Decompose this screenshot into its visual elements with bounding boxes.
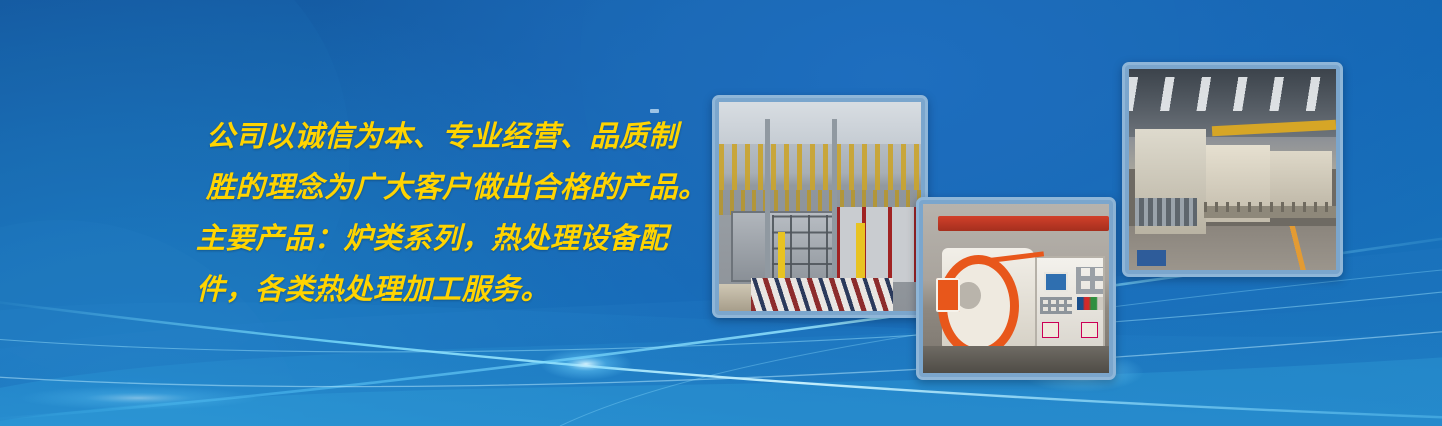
photo-continuous-furnace-image	[1129, 69, 1336, 270]
headline-line-3: 主要产品：炉类系列，热处理设备配	[196, 214, 716, 265]
photo-vacuum-furnace-image	[923, 204, 1109, 373]
photo-pit-furnace-image	[719, 102, 921, 311]
headline-copy: 公司以诚信为本、专业经营、品质制 胜的理念为广大客户做出合格的产品。 主要产品：…	[196, 112, 716, 316]
headline-line-2: 胜的理念为广大客户做出合格的产品。	[196, 163, 716, 214]
headline-line-1: 公司以诚信为本、专业经营、品质制	[196, 112, 716, 163]
company-banner: 公司以诚信为本、专业经营、品质制 胜的理念为广大客户做出合格的产品。 主要产品：…	[0, 0, 1442, 426]
photo-pit-furnace-workshop[interactable]	[712, 95, 928, 318]
photo-vacuum-furnace[interactable]	[916, 197, 1116, 380]
photo-continuous-furnace-line[interactable]	[1122, 62, 1343, 277]
headline-line-4: 件，各类热处理加工服务。	[196, 265, 716, 316]
